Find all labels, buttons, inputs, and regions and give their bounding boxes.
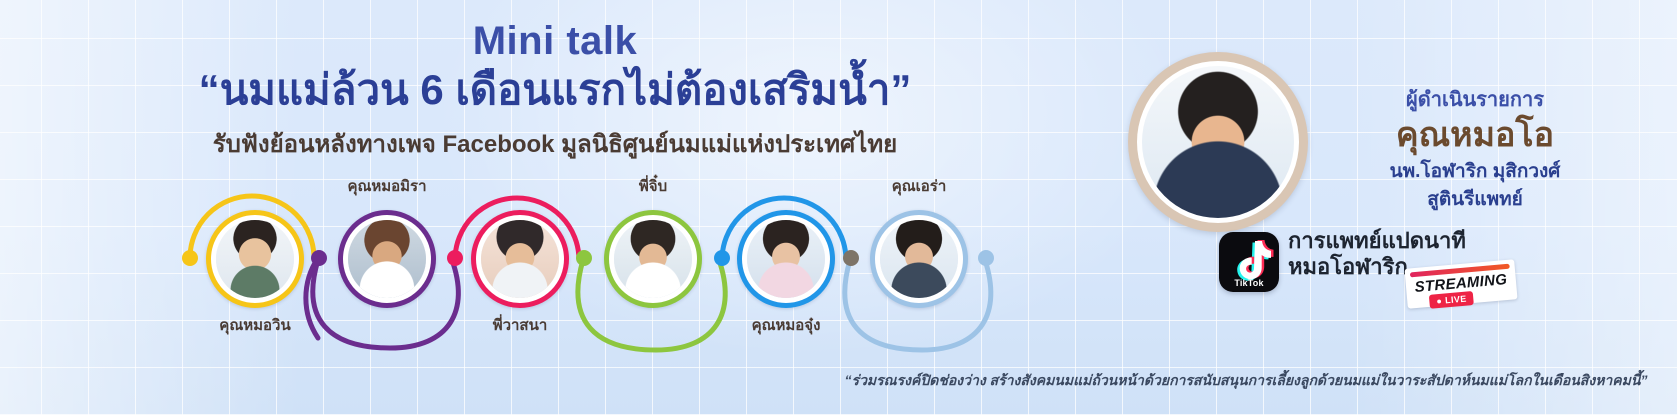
timeline-node-dot [843,250,859,266]
tiktok-wordmark: TikTok [1219,278,1279,288]
host-fullname-line2: สูตินรีแพทย์ [1290,188,1660,212]
speaker-name: คุณหมอวิน [185,313,325,337]
speaker-name: พี่จิ๋บ [583,174,723,198]
speaker-avatar-ring[interactable] [604,210,702,308]
host-photo [1142,66,1294,218]
speaker-avatar-ring[interactable] [338,210,436,308]
event-banner: Mini talk “นมแม่ล้วน 6 เดือนแรกไม่ต้องเส… [0,0,1677,415]
host-role: ผู้ดำเนินรายการ [1290,88,1660,113]
timeline-end-dot [978,250,994,266]
campaign-caption: “ร่วมรณรงค์ปิดช่องว่าง สร้างสังคมนมแม่ถ้… [836,371,1656,389]
speaker-photo [614,220,692,298]
speaker-photo [216,220,294,298]
speaker-name: คุณเอร่า [849,174,989,198]
speaker-name: คุณหมอมิรา [317,174,457,198]
host-fullname-line1: นพ.โอฬาริก มุสิกวงศ์ [1290,160,1660,184]
speaker-name: พี่วาสนา [450,313,590,337]
tiktok-icon[interactable]: TikTok [1219,232,1279,292]
headline-block: Mini talk “นมแม่ล้วน 6 เดือนแรกไม่ต้องเส… [0,0,1110,160]
speaker-photo [481,220,559,298]
replay-note: รับฟังย้อนหลังทางเพจ Facebook มูลนิธิศูน… [0,131,1110,160]
host-info: ผู้ดำเนินรายการ คุณหมอโอ นพ.โอฬาริก มุสิ… [1290,88,1660,212]
page-title: Mini talk [0,20,1110,63]
live-badge: ● LIVE [1429,291,1474,309]
streaming-badge: STREAMING ● LIVE [1404,259,1517,308]
speaker-avatar-ring[interactable] [471,210,569,308]
speaker-avatar-ring[interactable] [737,210,835,308]
speaker-photo [880,220,958,298]
host-nickname: คุณหมอโอ [1290,115,1660,156]
timeline-node-dot [447,250,463,266]
speaker-name: คุณหมอจุ๋ง [716,313,856,337]
timeline-node-dot [311,250,327,266]
channel-name-line1: การแพทย์แปดนาที [1288,228,1538,254]
speaker-photo [747,220,825,298]
timeline-node-dot [714,250,730,266]
host-avatar[interactable] [1128,52,1308,232]
timeline-node-dot [576,250,592,266]
speaker-avatar-ring[interactable] [206,210,304,308]
talk-topic: “นมแม่ล้วน 6 เดือนแรกไม่ต้องเสริมน้ำ” [0,65,1110,115]
speaker-avatar-ring[interactable] [870,210,968,308]
speaker-photo [348,220,426,298]
timeline-node-dot [182,250,198,266]
